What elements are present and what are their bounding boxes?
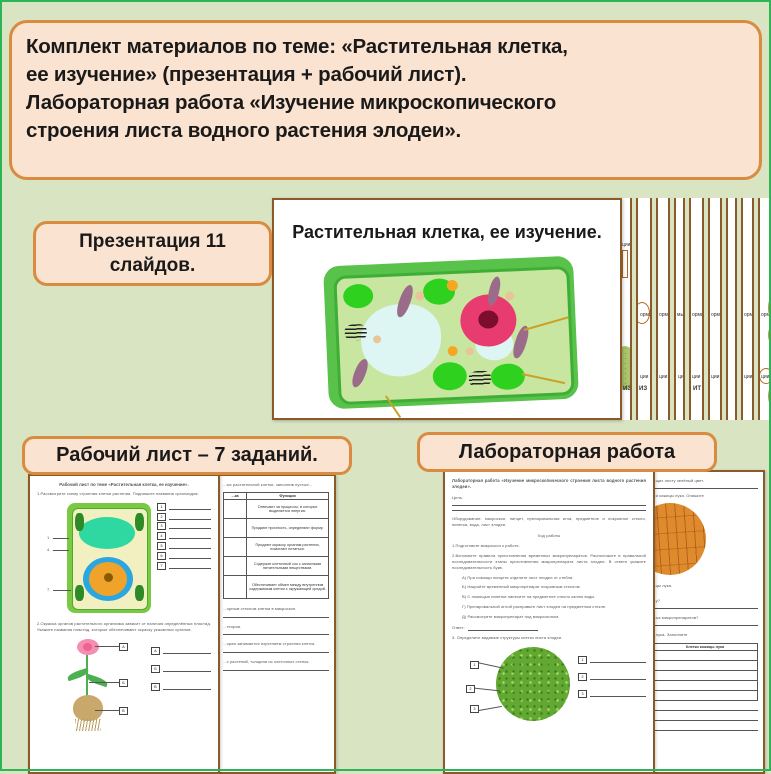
lab-option: Б) Накройте временный микропрепарат покр… xyxy=(462,584,646,590)
table-cell-blank[interactable] xyxy=(653,680,758,690)
worksheet-question: ...х растений, толщина их клеточных стен… xyxy=(223,659,329,665)
answer-number: 1 xyxy=(578,656,587,664)
table-row xyxy=(653,650,758,660)
diagram-label: А xyxy=(119,643,128,651)
organelle-dot-icon xyxy=(415,291,424,300)
stack-slide-oval xyxy=(759,368,771,384)
table-row: Отвечают за процессы, в которых выделяет… xyxy=(224,499,329,518)
answer-number: 3 xyxy=(578,690,587,698)
answer-line[interactable] xyxy=(652,625,758,626)
table-cell-function: Содержат клеточный сок с запасными питат… xyxy=(247,556,329,575)
answer-line[interactable] xyxy=(590,657,646,663)
chloroplast-icon xyxy=(432,361,467,390)
answer-line[interactable] xyxy=(169,543,211,549)
answer-number: 2 xyxy=(157,513,166,521)
stack-slide[interactable]: ормы ции xyxy=(758,198,771,420)
stack-slide-fragment: ИЗ xyxy=(623,386,631,392)
answer-number: 6 xyxy=(157,552,166,560)
answer-line[interactable] xyxy=(223,617,329,618)
diagram-label: Б xyxy=(119,679,128,687)
stack-slide-fragment: ормы xyxy=(744,312,754,318)
presentation-slide-thumbnail[interactable]: Растительная клетка, ее изучение. xyxy=(272,198,622,420)
lab-option: Г) Препаровальной иглой расправьте лист … xyxy=(462,604,646,610)
lab-step-1: 1.Подготовьте микроскоп к работе. xyxy=(452,543,646,549)
answer-line[interactable] xyxy=(652,720,758,721)
stack-slide[interactable] xyxy=(726,198,737,420)
table-cell-function: Обеспечивает обмен между внутренним соде… xyxy=(247,575,329,598)
mitochondrion-icon xyxy=(349,357,370,389)
lab-page2-line: ...ых микропрепаратов? xyxy=(652,615,758,621)
answer-line[interactable] xyxy=(452,505,646,506)
lab-badge-label: Лабораторная работа xyxy=(459,441,675,464)
lab-equipment: Оборудование: микроскоп, пинцет, препаро… xyxy=(452,516,646,528)
answer-line[interactable] xyxy=(163,666,211,672)
stack-slide-fragment: ИЗ xyxy=(639,386,647,392)
worksheet-question: ...орая занимается изучением строения кл… xyxy=(223,641,329,647)
diagram-label: 2 xyxy=(466,685,475,693)
table-col-header: Функция xyxy=(247,492,329,499)
answer-line[interactable] xyxy=(169,533,211,539)
stack-slide-fragment: мы xyxy=(677,312,684,318)
worksheet-function-table: ...ка Функция Отвечают за процессы, в ко… xyxy=(223,492,329,599)
answer-number: 3 xyxy=(157,522,166,530)
stack-slide-fragment: ции xyxy=(659,374,667,380)
answer-line[interactable] xyxy=(452,510,646,511)
plant-cell-illustration xyxy=(326,255,576,410)
stack-slide-box xyxy=(622,250,628,278)
table-cell-blank[interactable] xyxy=(224,575,247,598)
lab-onion-table: Клетки кожицы лука xyxy=(652,643,758,701)
worksheet-task-2: 2.Окраска органов растительного организм… xyxy=(37,621,211,633)
worksheet-cell-diagram: 1 4 7 1 2 3 4 5 6 7 xyxy=(37,499,211,617)
lab-page2-line: ...и кожицы лука. Опишите xyxy=(652,493,758,499)
chloroplast-icon xyxy=(490,363,525,390)
answer-line[interactable] xyxy=(590,674,646,680)
table-cell-blank[interactable] xyxy=(653,670,758,680)
answer-letter: Б xyxy=(151,665,160,673)
presentation-badge-label: Презентация 11 слайдов. xyxy=(79,230,226,278)
worksheet-page2-lead: ...ых растительной клетки, заполнив пуст… xyxy=(223,482,329,488)
table-row xyxy=(653,670,758,680)
stack-slide-fragment: ормы xyxy=(761,312,771,318)
answer-line[interactable] xyxy=(223,670,329,671)
stack-slide-fragment: ИТ xyxy=(693,386,701,392)
worksheet-badge: Рабочий лист – 7 заданий. xyxy=(22,436,352,475)
organelle-dot-icon xyxy=(447,280,458,291)
lab-page-2[interactable]: ...щих листу зелёный цвет. ...и кожицы л… xyxy=(645,470,765,774)
stack-slide-fragment: ции xyxy=(692,374,700,380)
golgi-apparatus-icon xyxy=(469,370,492,387)
lab-step-2: 2.Вспомните правила приготовления времен… xyxy=(452,553,646,570)
answer-line[interactable] xyxy=(163,648,211,654)
answer-line[interactable] xyxy=(223,634,329,635)
lab-option: Д) Рассмотрите микропрепарат под микроск… xyxy=(462,614,646,620)
stack-slide-fragment: ции xyxy=(640,374,648,380)
presentation-badge: Презентация 11 слайдов. xyxy=(33,221,272,286)
lab-page2-line: ...у? xyxy=(652,598,758,604)
table-cell-blank[interactable] xyxy=(653,650,758,660)
organelle-dot-icon xyxy=(466,347,474,355)
lab-option: А) При помощи пинцета отделите лист элод… xyxy=(462,575,646,581)
lab-elodea-diagram: 1 2 3 1 2 3 xyxy=(452,645,646,725)
answer-line[interactable] xyxy=(468,625,538,631)
table-row: Придают окраску органам растения, помога… xyxy=(224,537,329,556)
answer-line[interactable] xyxy=(223,652,329,653)
answer-number: 5 xyxy=(157,542,166,550)
table-cell-blank[interactable] xyxy=(653,660,758,670)
stack-slide-fragment: ции xyxy=(711,374,719,380)
lab-page-1[interactable]: Лабораторная работа «Изучение микроскопи… xyxy=(443,470,655,774)
stack-slide[interactable]: ормы ции ИЗ xyxy=(636,198,652,420)
table-cell-blank[interactable] xyxy=(224,518,247,537)
worksheet-plant-diagram: А Б В А Б В xyxy=(37,637,211,747)
answer-line[interactable] xyxy=(169,563,211,569)
stack-slide-fragment: ции xyxy=(622,242,630,248)
answer-letter: А xyxy=(151,647,160,655)
chloroplast-icon xyxy=(343,283,374,308)
table-col-header: Клетки кожицы лука xyxy=(653,643,758,650)
table-cell-function: Отвечают за процессы, в которых выделяет… xyxy=(247,499,329,518)
table-cell-function: Придают окраску органам растения, помога… xyxy=(247,537,329,556)
stack-slide[interactable]: ормы ции ИТ xyxy=(689,198,704,420)
lab-goal-label: Цель: xyxy=(452,495,646,501)
organelle-dot-icon xyxy=(447,346,457,356)
stack-slide[interactable]: ормы ции xyxy=(741,198,754,420)
answer-line[interactable] xyxy=(163,684,211,690)
table-cell-blank[interactable] xyxy=(224,499,247,518)
lab-step-3: 3. Определите видимые структуры клетки л… xyxy=(452,635,646,641)
stack-slide-fragment: ормы xyxy=(711,312,722,318)
stack-slide-fragment: ции xyxy=(744,374,752,380)
table-header-row: ...ка Функция xyxy=(224,492,329,499)
table-row: Содержат клеточный сок с запасными питат… xyxy=(224,556,329,575)
stack-slide-fragment: ормы xyxy=(692,312,704,318)
stack-slide-oval xyxy=(636,302,650,324)
worksheet-page-2[interactable]: ...ых растительной клетки, заполнив пуст… xyxy=(216,474,336,774)
worksheet-question: ...орным стеклом клетки в микроскоп. xyxy=(223,606,329,612)
worksheet-badge-label: Рабочий лист – 7 заданий. xyxy=(56,444,318,467)
answer-line[interactable] xyxy=(169,523,211,529)
answer-number: 7 xyxy=(157,562,166,570)
worksheet-question: ...теория. xyxy=(223,624,329,630)
page-title: Комплект материалов по теме: «Растительн… xyxy=(26,33,568,145)
diagram-leader: 1 xyxy=(47,535,49,541)
lab-page2-line: ...щих листу зелёный цвет. xyxy=(652,478,758,484)
diagram-leader: 4 xyxy=(47,547,49,553)
worksheet-page-1[interactable]: Рабочий лист по теме «Растительная клетк… xyxy=(28,474,220,774)
answer-line[interactable] xyxy=(652,710,758,711)
table-header-row: Клетки кожицы лука xyxy=(653,643,758,650)
answer-line[interactable] xyxy=(652,730,758,731)
stack-slide[interactable]: ормы ции xyxy=(708,198,722,420)
lab-page2-line: ...цы лука. xyxy=(652,583,758,589)
table-row xyxy=(653,660,758,670)
answer-number: 4 xyxy=(157,532,166,540)
answer-line[interactable] xyxy=(169,553,211,559)
table-cell-blank[interactable] xyxy=(653,690,758,700)
table-col-header: ...ка xyxy=(224,492,247,499)
lab-badge: Лабораторная работа xyxy=(417,432,717,472)
lab-option: В) С помощью пипетки нанесите на предмет… xyxy=(462,594,646,600)
golgi-apparatus-icon xyxy=(344,324,367,341)
stack-slide[interactable]: ормы ции xyxy=(656,198,670,420)
answer-line[interactable] xyxy=(169,504,211,510)
cytoplasm xyxy=(333,266,574,405)
organelle-dot-icon xyxy=(505,291,514,300)
lab-procedure-heading: Ход работы xyxy=(452,533,646,539)
answer-letter: В xyxy=(151,683,160,691)
diagram-leader: 7 xyxy=(47,587,49,593)
worksheet-task-1: 1.Рассмотрите схему строения клетки раст… xyxy=(37,491,211,497)
answer-line[interactable] xyxy=(652,608,758,609)
lab-answer-label: Ответ: xyxy=(452,625,465,631)
worksheet-heading: Рабочий лист по теме «Растительная клетк… xyxy=(37,482,211,488)
lab-page2-line: ...лука. Заполните xyxy=(652,632,758,638)
slide-title: Растительная клетка, ее изучение. xyxy=(274,222,620,243)
table-row: Обеспечивает обмен между внутренним соде… xyxy=(224,575,329,598)
answer-number: 2 xyxy=(578,673,587,681)
answer-number: 1 xyxy=(157,503,166,511)
answer-line[interactable] xyxy=(590,691,646,697)
stack-slide-fragment: ормы xyxy=(659,312,670,318)
title-callout: Комплект материалов по теме: «Растительн… xyxy=(9,20,762,180)
table-cell-blank[interactable] xyxy=(224,537,247,556)
table-row: Придают прочность, определяют форму. xyxy=(224,518,329,537)
diagram-label: В xyxy=(119,707,128,715)
presentation-slide-stack[interactable]: ции ИЗ ормы ции ИЗ ормы ции мы ции ормы … xyxy=(619,198,771,420)
lab-heading: Лабораторная работа «Изучение микроскопи… xyxy=(452,478,646,490)
table-cell-blank[interactable] xyxy=(224,556,247,575)
answer-line[interactable] xyxy=(652,488,758,489)
stack-slide-fragment: ции xyxy=(678,374,685,380)
table-row xyxy=(653,680,758,690)
table-row xyxy=(653,690,758,700)
answer-line[interactable] xyxy=(169,514,211,520)
microscope-field-image xyxy=(496,647,570,721)
table-cell-function: Придают прочность, определяют форму. xyxy=(247,518,329,537)
stack-slide[interactable]: мы ции xyxy=(674,198,685,420)
